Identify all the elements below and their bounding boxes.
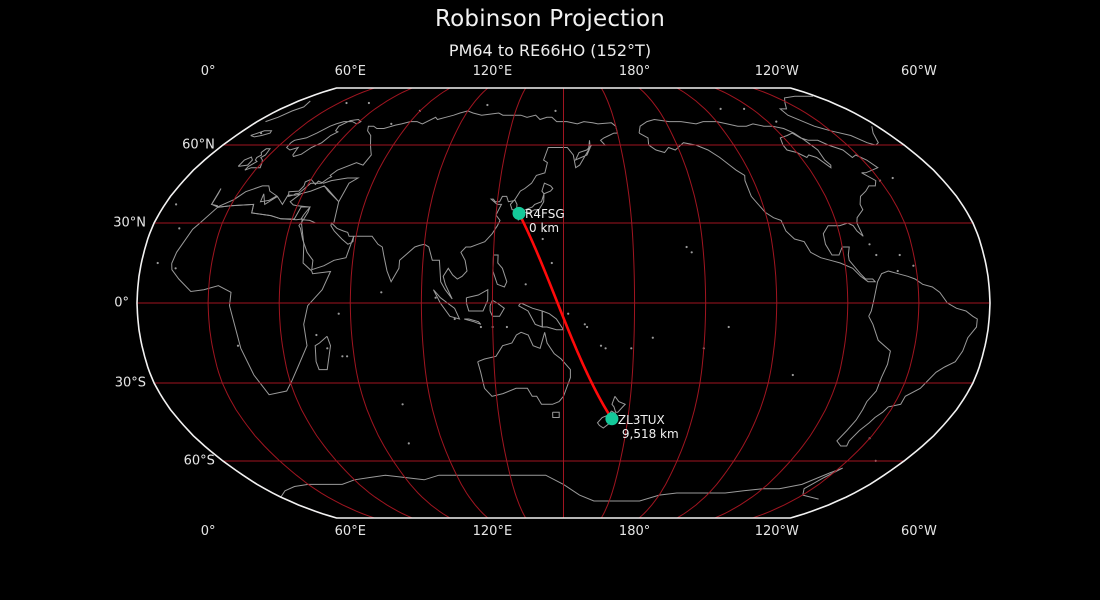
lat-tick-3: 30°S [115, 376, 146, 391]
lon-tick-bottom-0: 0° [201, 524, 216, 539]
lat-tick-1: 30°N [113, 216, 146, 231]
lat-tick-2: 0° [114, 296, 129, 311]
lon-tick-bottom-1: 60°E [335, 524, 366, 539]
station-distance: 0 km [529, 221, 565, 235]
page-subtitle: PM64 to RE66HO (152°T) [0, 41, 1100, 60]
lon-tick-top-2: 120°E [473, 64, 513, 79]
map-application: Robinson Projection PM64 to RE66HO (152°… [0, 0, 1100, 600]
station-callsign: ZL3TUX [618, 413, 665, 427]
lon-tick-top-1: 60°E [335, 64, 366, 79]
station-label-zl3tux: ZL3TUX9,518 km [618, 413, 679, 441]
lon-tick-bottom-2: 120°E [473, 524, 513, 539]
lon-tick-bottom-3: 180° [619, 524, 650, 539]
station-marker-r4fsg[interactable] [513, 207, 526, 220]
world-map-canvas[interactable] [0, 0, 1100, 600]
lon-tick-top-5: 60°W [901, 64, 937, 79]
station-label-r4fsg: R4FSG0 km [525, 207, 565, 235]
lon-tick-top-0: 0° [201, 64, 216, 79]
lon-tick-bottom-5: 60°W [901, 524, 937, 539]
page-title: Robinson Projection [0, 6, 1100, 32]
lat-tick-0: 60°N [182, 138, 215, 153]
lat-tick-4: 60°S [184, 453, 215, 468]
lon-tick-top-3: 180° [619, 64, 650, 79]
station-marker-zl3tux[interactable] [605, 412, 618, 425]
lon-tick-top-4: 120°W [755, 64, 799, 79]
station-callsign: R4FSG [525, 207, 565, 221]
lon-tick-bottom-4: 120°W [755, 524, 799, 539]
station-distance: 9,518 km [622, 427, 679, 441]
map-background [0, 0, 1100, 600]
